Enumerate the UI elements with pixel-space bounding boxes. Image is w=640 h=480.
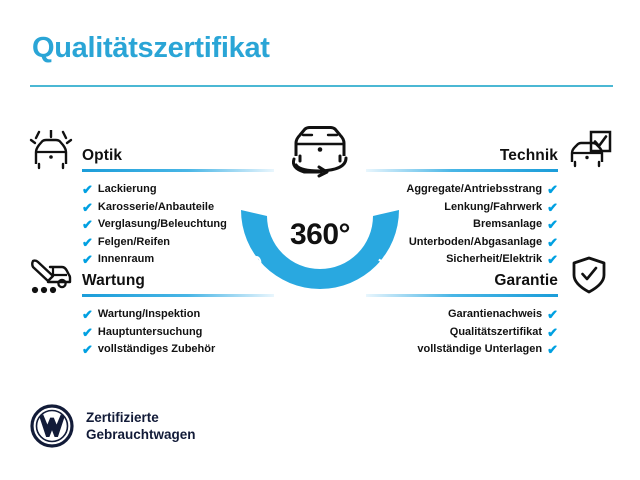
header-divider — [30, 85, 613, 87]
list-item-label: Verglasung/Beleuchtung — [98, 219, 227, 230]
section-title: Garantie — [494, 272, 558, 290]
check-icon: ✔ — [82, 218, 93, 231]
list-item-label: Lackierung — [98, 184, 157, 195]
checklist-wartung: ✔ Wartung/Inspektion ✔ Hauptuntersuchung… — [82, 306, 274, 359]
footer-line-2: Gebrauchtwagen — [86, 426, 196, 443]
section-title: Technik — [500, 147, 558, 165]
checklist-garantie: Garantienachweis ✔ Qualitätszertifikat ✔… — [366, 306, 558, 359]
badge-center-text: 360° — [227, 218, 413, 252]
check-icon: ✔ — [547, 218, 558, 231]
list-item: Lenkung/Fahrwerk ✔ — [444, 199, 558, 217]
list-item-label: Lenkung/Fahrwerk — [444, 202, 542, 213]
list-item-label: Hauptuntersuchung — [98, 327, 203, 338]
list-item-label: Bremsanlage — [473, 219, 542, 230]
list-item: Aggregate/Antriebsstrang ✔ — [406, 181, 558, 199]
list-item-label: Felgen/Reifen — [98, 237, 170, 248]
footer-line-1: Zertifizierte — [86, 409, 196, 426]
list-item-label: Garantienachweis — [448, 309, 542, 320]
page-title: Qualitätszertifikat — [32, 32, 270, 65]
check-icon: ✔ — [82, 236, 93, 249]
certificate-page: Qualitätszertifikat — [0, 0, 640, 480]
list-item: Unterboden/Abgasanlage ✔ — [409, 234, 558, 252]
list-item: ✔ Hauptuntersuchung — [82, 324, 274, 342]
list-item: vollständige Unterlagen ✔ — [417, 341, 558, 359]
wrench-car-icon — [28, 255, 74, 295]
check-icon: ✔ — [547, 308, 558, 321]
list-item-label: Aggregate/Antriebsstrang — [406, 184, 542, 195]
check-icon: ✔ — [547, 236, 558, 249]
check-icon: ✔ — [547, 326, 558, 339]
list-item-label: Qualitätszertifikat — [450, 327, 542, 338]
car-shine-icon — [28, 130, 74, 170]
list-item-label: Karosserie/Anbauteile — [98, 202, 214, 213]
shield-check-icon — [566, 255, 612, 295]
check-icon: ✔ — [547, 201, 558, 214]
section-title: Optik — [82, 147, 122, 165]
list-item: Qualitätszertifikat ✔ — [450, 324, 558, 342]
footer-brand: Zertifizierte Gebrauchtwagen — [30, 404, 196, 448]
check-icon: ✔ — [82, 308, 93, 321]
check-icon: ✔ — [547, 343, 558, 356]
list-item-label: Wartung/Inspektion — [98, 309, 200, 320]
check-icon: ✔ — [547, 183, 558, 196]
list-item-label: vollständige Unterlagen — [417, 344, 542, 355]
footer-brand-text: Zertifizierte Gebrauchtwagen — [86, 409, 196, 444]
check-icon: ✔ — [82, 326, 93, 339]
section-title: Wartung — [82, 272, 145, 290]
volkswagen-logo — [30, 404, 74, 448]
list-item-label: vollständiges Zubehör — [98, 344, 215, 355]
check-icon: ✔ — [82, 183, 93, 196]
car-checkbox-icon — [566, 130, 612, 170]
check-icon: ✔ — [82, 201, 93, 214]
check-icon: ✔ — [82, 343, 93, 356]
car-rotation-icon — [278, 118, 362, 178]
list-item: ✔ vollständiges Zubehör — [82, 341, 274, 359]
list-item: Garantienachweis ✔ — [448, 306, 558, 324]
list-item: Bremsanlage ✔ — [473, 216, 558, 234]
list-item-label: Unterboden/Abgasanlage — [409, 237, 542, 248]
